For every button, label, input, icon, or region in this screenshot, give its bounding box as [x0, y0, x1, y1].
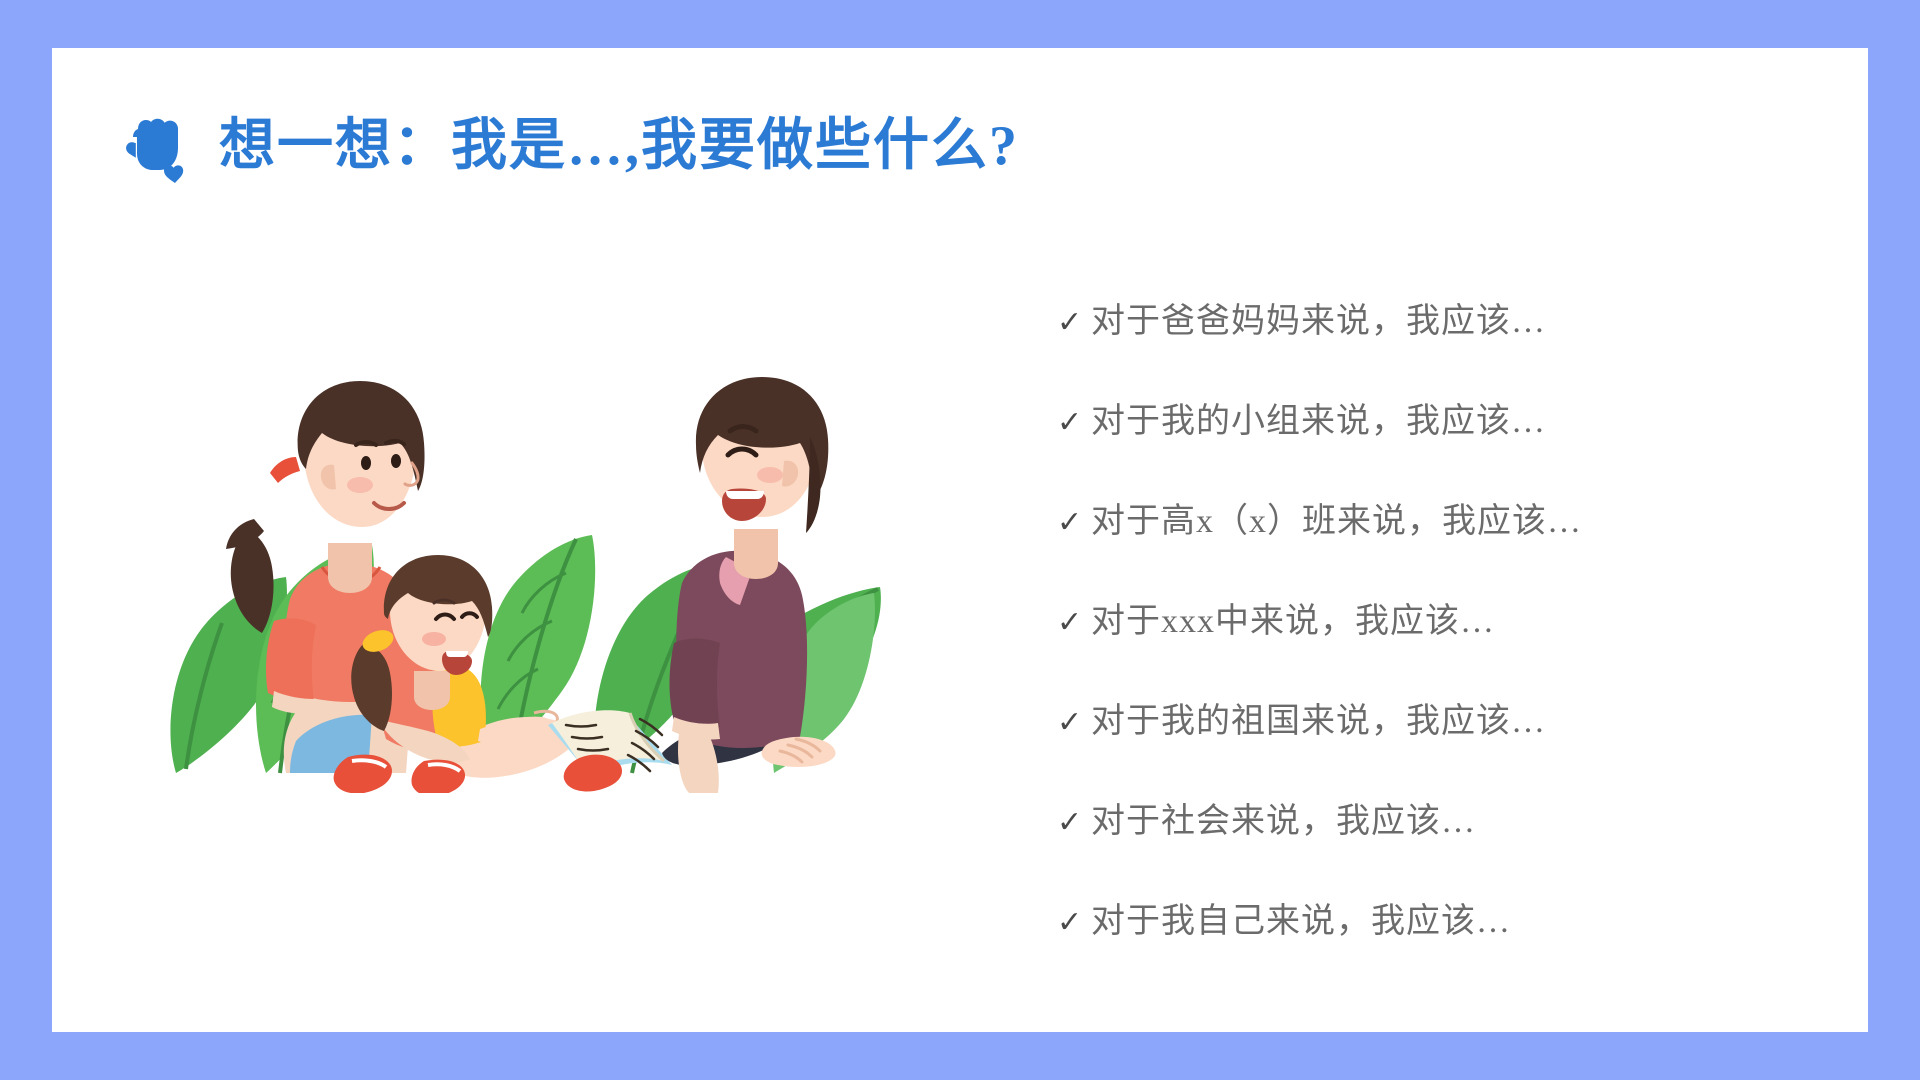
list-item-label: 对于我的小组来说，我应该… [1091, 393, 1546, 442]
check-icon: ✓ [1057, 608, 1091, 638]
slide-card: 想一想：我是…,我要做些什么? [52, 48, 1868, 1032]
list-item-label: 对于xxx中来说，我应该… [1091, 593, 1495, 642]
list-item-label: 对于高x（x）班来说，我应该… [1091, 493, 1582, 542]
list-item-label: 对于我的祖国来说，我应该… [1091, 693, 1546, 742]
fist-heart-icon [117, 103, 191, 191]
check-icon: ✓ [1057, 908, 1091, 938]
list-item[interactable]: ✓ 对于我的祖国来说，我应该… [1057, 693, 1757, 793]
list-item[interactable]: ✓ 对于我的小组来说，我应该… [1057, 393, 1757, 493]
list-item[interactable]: ✓ 对于xxx中来说，我应该… [1057, 593, 1757, 693]
check-icon: ✓ [1057, 408, 1091, 438]
check-icon: ✓ [1057, 508, 1091, 538]
list-item[interactable]: ✓ 对于爸爸妈妈来说，我应该… [1057, 293, 1757, 393]
list-item[interactable]: ✓ 对于社会来说，我应该… [1057, 793, 1757, 893]
check-icon: ✓ [1057, 708, 1091, 738]
list-item[interactable]: ✓ 对于我自己来说，我应该… [1057, 893, 1757, 993]
check-icon: ✓ [1057, 808, 1091, 838]
list-item-label: 对于我自己来说，我应该… [1091, 893, 1511, 942]
checklist: ✓ 对于爸爸妈妈来说，我应该… ✓ 对于我的小组来说，我应该… ✓ 对于高x（x… [1057, 293, 1757, 993]
slide-root: 想一想：我是…,我要做些什么? [0, 0, 1920, 1080]
list-item[interactable]: ✓ 对于高x（x）班来说，我应该… [1057, 493, 1757, 593]
list-item-label: 对于社会来说，我应该… [1091, 793, 1476, 842]
list-item-label: 对于爸爸妈妈来说，我应该… [1091, 293, 1546, 342]
slide-header: 想一想：我是…,我要做些什么? [117, 103, 1019, 191]
family-reading-illustration [162, 333, 882, 793]
check-icon: ✓ [1057, 308, 1091, 338]
page-title: 想一想：我是…,我要做些什么? [219, 116, 1019, 178]
